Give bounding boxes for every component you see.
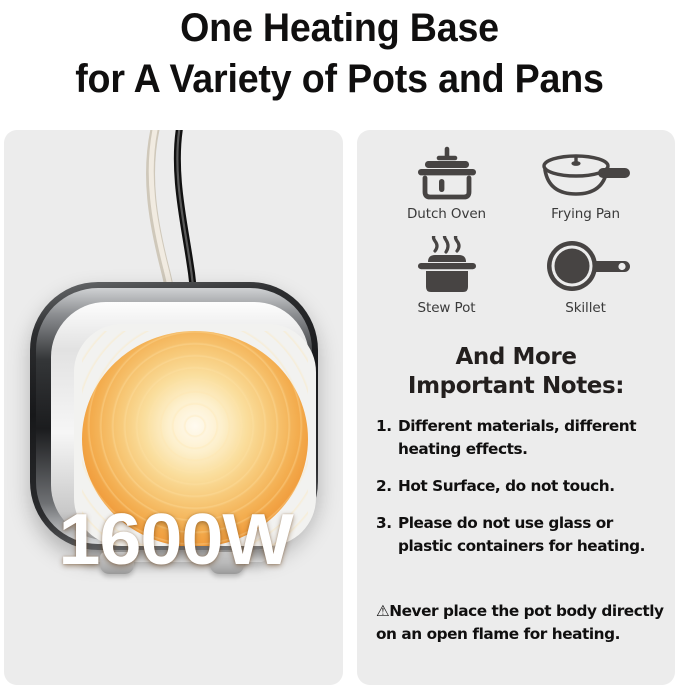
cookware-row-1: Dutch Oven Frying Pan [377,142,655,222]
warning-text: Never place the pot body directly on an … [376,602,664,643]
cookware-label: Skillet [516,300,655,316]
notes-heading-line-2: Important Notes: [357,372,675,401]
cookware-item-dutch-oven: Dutch Oven [377,142,516,222]
wattage-label: 1600W [4,504,343,576]
page-title-line-1: One Heating Base [20,0,658,54]
page-title-line-2: for A Variety of Pots and Pans [20,54,658,105]
cookware-item-skillet: Skillet [516,236,655,316]
note-text: Different materials, different heating e… [398,417,636,458]
page-title: One Heating Base for A Variety of Pots a… [20,0,658,105]
warning-triangle-icon: ⚠ [376,602,389,620]
skillet-icon [516,236,655,298]
stew-pot-icon [377,236,516,298]
note-number: 1. [376,415,392,438]
note-text: Please do not use glass or plastic conta… [398,514,645,555]
note-number: 2. [376,475,392,498]
warning-note: ⚠Never place the pot body directly on an… [376,600,668,646]
note-number: 3. [376,512,392,535]
note-item: 3. Please do not use glass or plastic co… [376,512,664,558]
cookware-label: Frying Pan [516,206,655,222]
note-item: 1. Different materials, different heatin… [376,415,664,461]
notes-heading: And More Important Notes: [357,343,675,401]
cookware-row-2: Stew Pot Skillet [377,236,655,316]
dutch-oven-icon [377,142,516,204]
cookware-label: Stew Pot [377,300,516,316]
notes-heading-line-1: And More [357,343,675,372]
cookware-item-frying-pan: Frying Pan [516,142,655,222]
note-item: 2. Hot Surface, do not touch. [376,475,664,498]
notes-list: 1. Different materials, different heatin… [376,415,664,572]
features-panel: Dutch Oven Frying Pan [357,130,675,685]
note-text: Hot Surface, do not touch. [398,477,615,495]
cookware-item-stew-pot: Stew Pot [377,236,516,316]
cookware-icon-grid: Dutch Oven Frying Pan [377,142,655,316]
product-image-panel: 1600W [4,130,343,685]
frying-pan-icon [516,142,655,204]
cookware-label: Dutch Oven [377,206,516,222]
